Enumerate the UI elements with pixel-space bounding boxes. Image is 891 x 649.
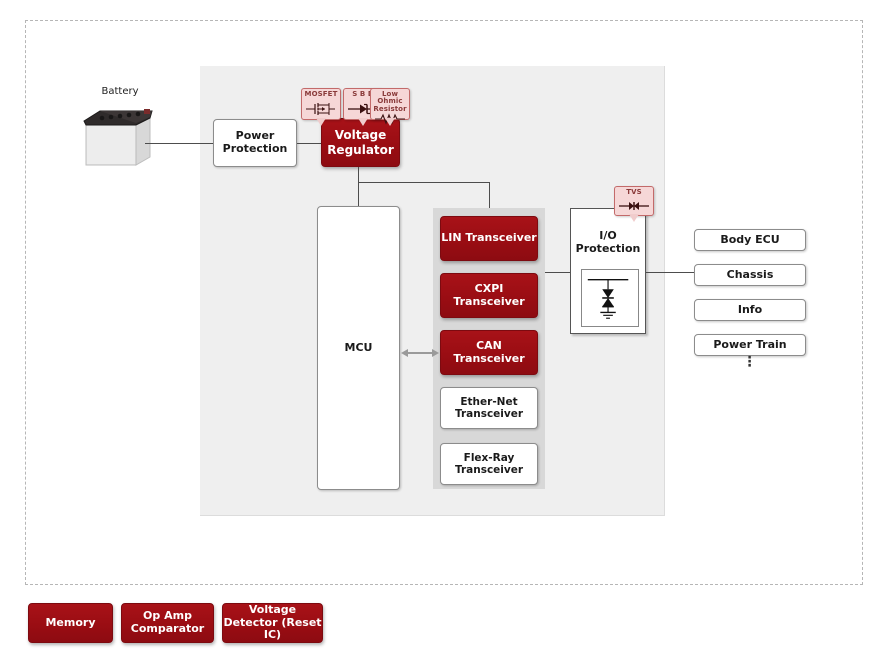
wire-vr-to-transceiver-group <box>489 182 490 208</box>
io-protection-symbol-icon <box>581 269 639 327</box>
ethernet-transceiver-block[interactable]: Ether-Net Transceiver <box>440 387 538 429</box>
wire-io-protection-to-ecus <box>646 272 694 273</box>
cxpi-transceiver-block[interactable]: CXPI Transceiver <box>440 273 538 318</box>
legend-item-voltage-detector-label: Voltage Detector (Reset IC) <box>223 604 322 643</box>
wire-power-protection-to-voltage-regulator <box>297 143 322 144</box>
battery-label: Battery <box>80 86 160 97</box>
legend-item-memory-label: Memory <box>45 617 95 630</box>
lin-transceiver-label: LIN Transceiver <box>441 232 536 245</box>
wire-vr-branch-horizontal <box>358 182 490 183</box>
wire-battery-to-power-protection <box>145 143 213 144</box>
mosfet-symbol-icon <box>302 98 340 119</box>
ecu-item-info-label: Info <box>738 304 762 317</box>
lin-transceiver-block[interactable]: LIN Transceiver <box>440 216 538 261</box>
can-transceiver-label: CAN Transceiver <box>441 340 537 366</box>
mcu-label: MCU <box>345 342 373 355</box>
diagram-canvas: Battery Power Protection Voltage <box>0 0 891 649</box>
io-protection-block[interactable]: I/O Protection <box>570 208 646 334</box>
legend: Memory Op Amp Comparator Voltage Detecto… <box>28 603 331 643</box>
flexray-transceiver-block[interactable]: Flex-Ray Transceiver <box>440 443 538 485</box>
ecu-item-info[interactable]: Info <box>694 299 806 321</box>
callout-mosfet[interactable]: MOSFET <box>301 88 341 120</box>
legend-item-memory[interactable]: Memory <box>28 603 113 643</box>
ecu-item-chassis[interactable]: Chassis <box>694 264 806 286</box>
ecu-item-power-train[interactable]: Power Train <box>694 334 806 356</box>
flexray-transceiver-label: Flex-Ray Transceiver <box>441 452 537 477</box>
callout-low-ohmic-resistor-label: Low Ohmic Resistor <box>371 91 409 113</box>
mcu-block[interactable]: MCU <box>317 206 400 490</box>
power-protection-label: Power Protection <box>214 130 296 156</box>
wire-transceivers-to-io-protection <box>545 272 571 273</box>
callout-tvs-label: TVS <box>626 189 642 196</box>
voltage-regulator-label: Voltage Regulator <box>322 128 399 156</box>
legend-item-op-amp-comparator-label: Op Amp Comparator <box>122 610 213 636</box>
callout-tvs[interactable]: TVS <box>614 186 654 216</box>
battery-icon <box>80 107 156 169</box>
can-transceiver-block[interactable]: CAN Transceiver <box>440 330 538 375</box>
ecu-item-body-ecu-label: Body ECU <box>720 234 779 247</box>
ecu-list-more-indicator: ⋮ <box>694 358 806 366</box>
legend-item-voltage-detector[interactable]: Voltage Detector (Reset IC) <box>222 603 323 643</box>
callout-mosfet-label: MOSFET <box>305 91 338 98</box>
cxpi-transceiver-label: CXPI Transceiver <box>441 283 537 309</box>
wire-vr-trunk-vertical <box>358 167 359 207</box>
power-protection-block[interactable]: Power Protection <box>213 119 297 167</box>
callout-low-ohmic-resistor[interactable]: Low Ohmic Resistor <box>370 88 410 120</box>
ecu-item-body-ecu[interactable]: Body ECU <box>694 229 806 251</box>
ethernet-transceiver-label: Ether-Net Transceiver <box>441 396 537 421</box>
io-protection-label: I/O Protection <box>571 229 645 255</box>
mcu-can-bidirectional-arrow-icon <box>401 344 439 356</box>
tvs-bidirectional-diode-symbol-icon <box>615 196 653 215</box>
ecu-item-chassis-label: Chassis <box>727 269 774 282</box>
legend-item-op-amp-comparator[interactable]: Op Amp Comparator <box>121 603 214 643</box>
ecu-item-power-train-label: Power Train <box>713 339 786 352</box>
